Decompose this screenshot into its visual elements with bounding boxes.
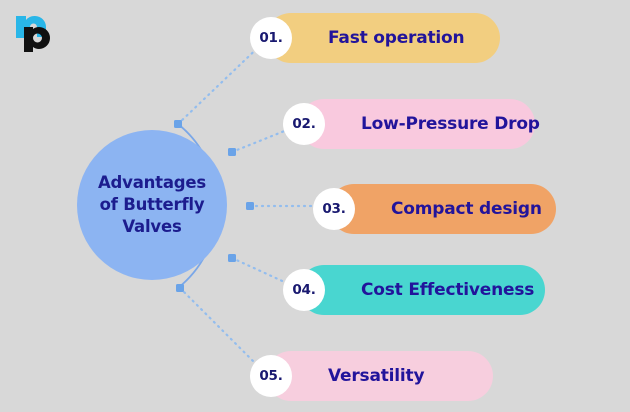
- branch-node-2: [228, 148, 236, 156]
- list-item[interactable]: Fast operation 01.: [0, 13, 630, 63]
- item-label: Low-Pressure Drop: [361, 114, 540, 134]
- item-number-badge: 01.: [250, 17, 292, 59]
- list-item[interactable]: Cost Effectiveness 04.: [0, 265, 630, 315]
- item-number: 01.: [259, 30, 282, 46]
- item-number-badge: 02.: [283, 103, 325, 145]
- diagram-canvas: Advantages of Butterfly Valves Fast oper…: [0, 0, 630, 412]
- item-pill[interactable]: Compact design: [329, 184, 556, 234]
- item-label: Fast operation: [328, 28, 464, 48]
- item-number-badge: 03.: [313, 188, 355, 230]
- item-label: Compact design: [391, 199, 542, 219]
- list-item[interactable]: Versatility 05.: [0, 351, 630, 401]
- item-pill[interactable]: Fast operation: [266, 13, 500, 63]
- branch-node-4: [228, 254, 236, 262]
- item-label: Versatility: [328, 366, 424, 386]
- list-item[interactable]: Compact design 03.: [0, 184, 630, 234]
- item-number: 04.: [292, 282, 315, 298]
- item-pill[interactable]: Cost Effectiveness: [299, 265, 545, 315]
- item-number: 05.: [259, 368, 282, 384]
- item-number: 02.: [292, 116, 315, 132]
- item-number: 03.: [322, 201, 345, 217]
- list-item[interactable]: Low-Pressure Drop 02.: [0, 99, 630, 149]
- item-number-badge: 05.: [250, 355, 292, 397]
- item-number-badge: 04.: [283, 269, 325, 311]
- item-pill[interactable]: Versatility: [266, 351, 493, 401]
- item-pill[interactable]: Low-Pressure Drop: [299, 99, 535, 149]
- item-label: Cost Effectiveness: [361, 280, 534, 300]
